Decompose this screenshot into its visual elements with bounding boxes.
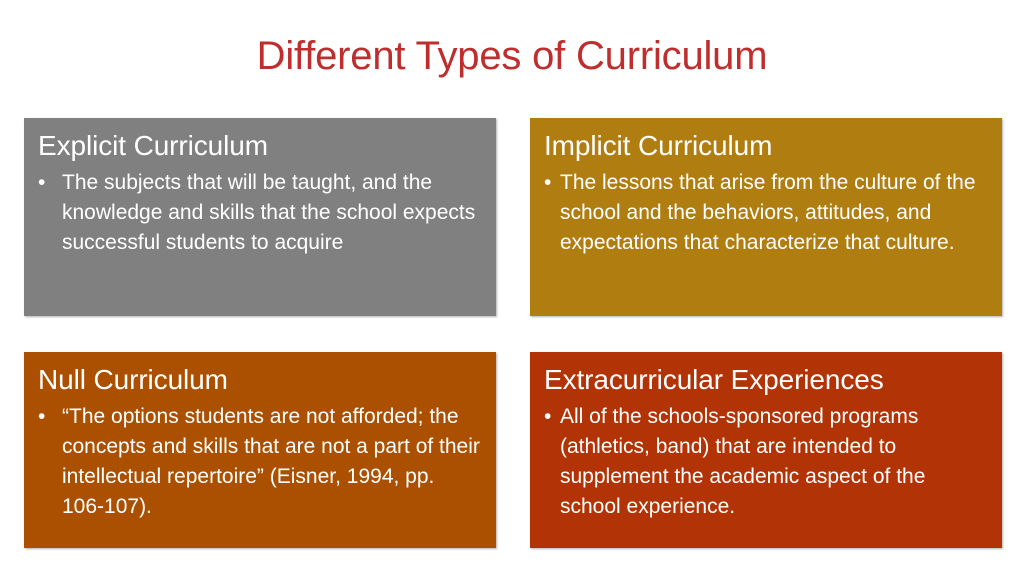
list-item-text: The subjects that will be taught, and th… (62, 168, 482, 258)
list-item-text: “The options students are not afforded; … (62, 402, 482, 522)
list-item: • All of the schools-sponsored programs … (544, 402, 988, 522)
card-body-explicit: • The subjects that will be taught, and … (38, 168, 482, 258)
bullet-icon: • (544, 402, 558, 432)
card-extracurricular-experiences[interactable]: Extracurricular Experiences • All of the… (530, 352, 1002, 548)
card-heading-explicit: Explicit Curriculum (38, 128, 482, 164)
card-null-curriculum[interactable]: Null Curriculum • “The options students … (24, 352, 496, 548)
card-body-implicit: • The lessons that arise from the cultur… (544, 168, 988, 258)
card-heading-extracurricular: Extracurricular Experiences (544, 362, 988, 398)
list-item-text: All of the schools-sponsored programs (a… (560, 402, 988, 522)
curriculum-type-grid: Explicit Curriculum • The subjects that … (0, 0, 1024, 576)
slide: Different Types of Curriculum Explicit C… (0, 0, 1024, 576)
card-body-extracurricular: • All of the schools-sponsored programs … (544, 402, 988, 522)
bullet-icon: • (38, 168, 52, 198)
card-implicit-curriculum[interactable]: Implicit Curriculum • The lessons that a… (530, 118, 1002, 316)
card-body-null: • “The options students are not afforded… (38, 402, 482, 522)
list-item: • The subjects that will be taught, and … (38, 168, 482, 258)
bullet-icon: • (38, 402, 52, 432)
card-heading-implicit: Implicit Curriculum (544, 128, 988, 164)
list-item: • The lessons that arise from the cultur… (544, 168, 988, 258)
list-item: • “The options students are not afforded… (38, 402, 482, 522)
card-heading-null: Null Curriculum (38, 362, 482, 398)
list-item-text: The lessons that arise from the culture … (560, 168, 988, 258)
card-explicit-curriculum[interactable]: Explicit Curriculum • The subjects that … (24, 118, 496, 316)
bullet-icon: • (544, 168, 558, 198)
